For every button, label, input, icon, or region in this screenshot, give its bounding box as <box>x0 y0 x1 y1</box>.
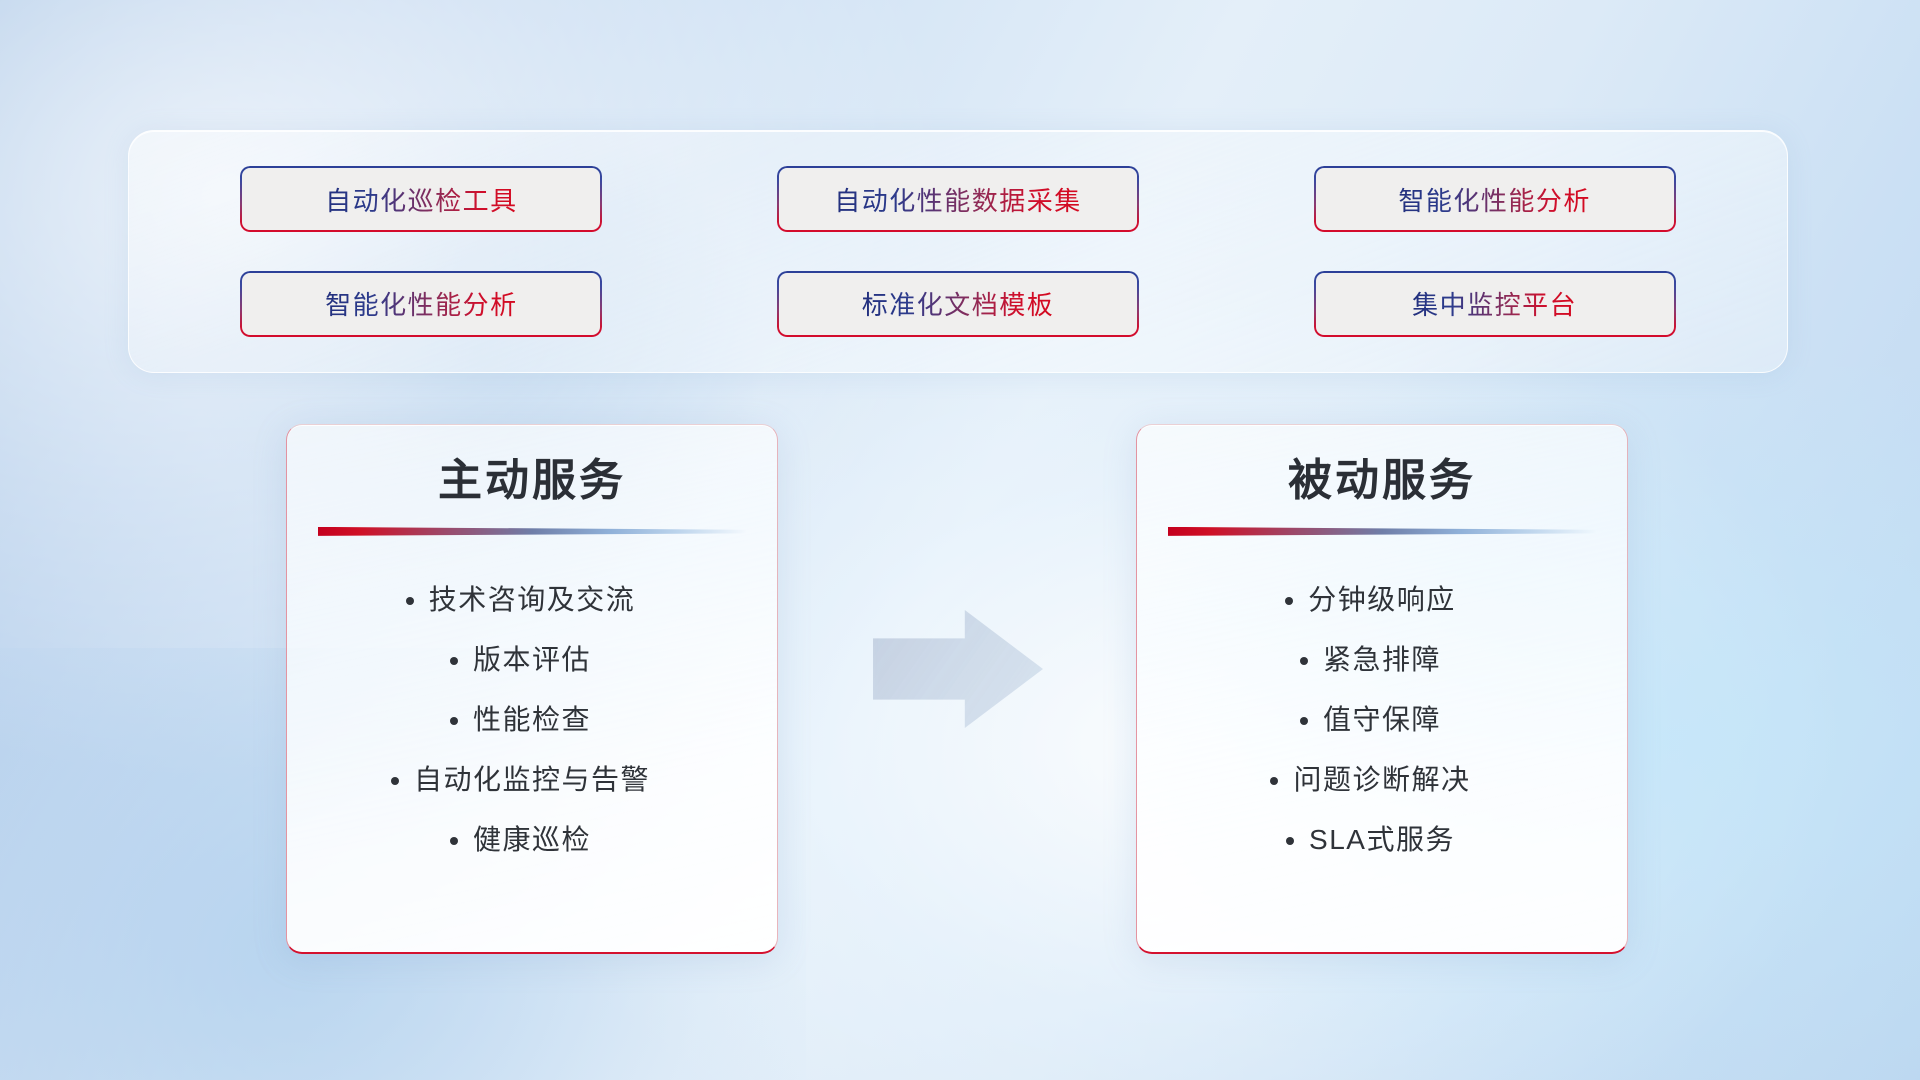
capability-tag[interactable]: 集中监控平台 <box>1316 273 1674 335</box>
capability-tag-label: 集中监控平台 <box>1412 285 1577 322</box>
service-item: 版本评估 <box>473 630 591 690</box>
card-divider <box>1168 527 1596 536</box>
capability-tag-panel: 自动化巡检工具 自动化性能数据采集 智能化性能分析 智能化性能分析 标准化文档模… <box>128 130 1788 373</box>
service-card-proactive: 主动服务 技术咨询及交流 版本评估 性能检查 自动化监控与告警 健康巡检 <box>286 424 778 954</box>
capability-tag-label: 标准化文档模板 <box>862 285 1055 322</box>
capability-tag[interactable]: 智能化性能分析 <box>242 273 600 335</box>
capability-tag[interactable]: 自动化性能数据采集 <box>779 168 1137 230</box>
capability-tag-label: 自动化巡检工具 <box>325 181 518 218</box>
card-divider <box>318 527 746 536</box>
card-title: 主动服务 <box>438 455 626 507</box>
capability-tag-label: 自动化性能数据采集 <box>834 181 1082 218</box>
diagram-stage: 自动化巡检工具 自动化性能数据采集 智能化性能分析 智能化性能分析 标准化文档模… <box>0 0 1920 1080</box>
capability-tag-label: 智能化性能分析 <box>1398 181 1591 218</box>
service-item: 健康巡检 <box>473 810 591 870</box>
service-item-list: 技术咨询及交流 版本评估 性能检查 自动化监控与告警 健康巡检 <box>287 570 777 870</box>
capability-tag[interactable]: 自动化巡检工具 <box>242 168 600 230</box>
right-arrow-icon <box>873 610 1043 728</box>
service-item-list: 分钟级响应 紧急排障 值守保障 问题诊断解决 SLA式服务 <box>1137 570 1627 870</box>
service-item: 分钟级响应 <box>1308 570 1456 630</box>
capability-tag[interactable]: 智能化性能分析 <box>1316 168 1674 230</box>
card-title: 被动服务 <box>1288 455 1476 507</box>
service-item: SLA式服务 <box>1309 810 1455 870</box>
capability-tag-grid: 自动化巡检工具 自动化性能数据采集 智能化性能分析 智能化性能分析 标准化文档模… <box>129 131 1787 372</box>
capability-tag[interactable]: 标准化文档模板 <box>779 273 1137 335</box>
service-card-reactive: 被动服务 分钟级响应 紧急排障 值守保障 问题诊断解决 SLA式服务 <box>1136 424 1628 954</box>
service-item: 紧急排障 <box>1323 630 1441 690</box>
service-item: 性能检查 <box>473 690 591 750</box>
service-item: 自动化监控与告警 <box>414 750 650 810</box>
service-item: 问题诊断解决 <box>1293 750 1470 810</box>
service-item: 值守保障 <box>1323 690 1441 750</box>
service-item: 技术咨询及交流 <box>429 570 636 630</box>
capability-tag-label: 智能化性能分析 <box>325 285 518 322</box>
